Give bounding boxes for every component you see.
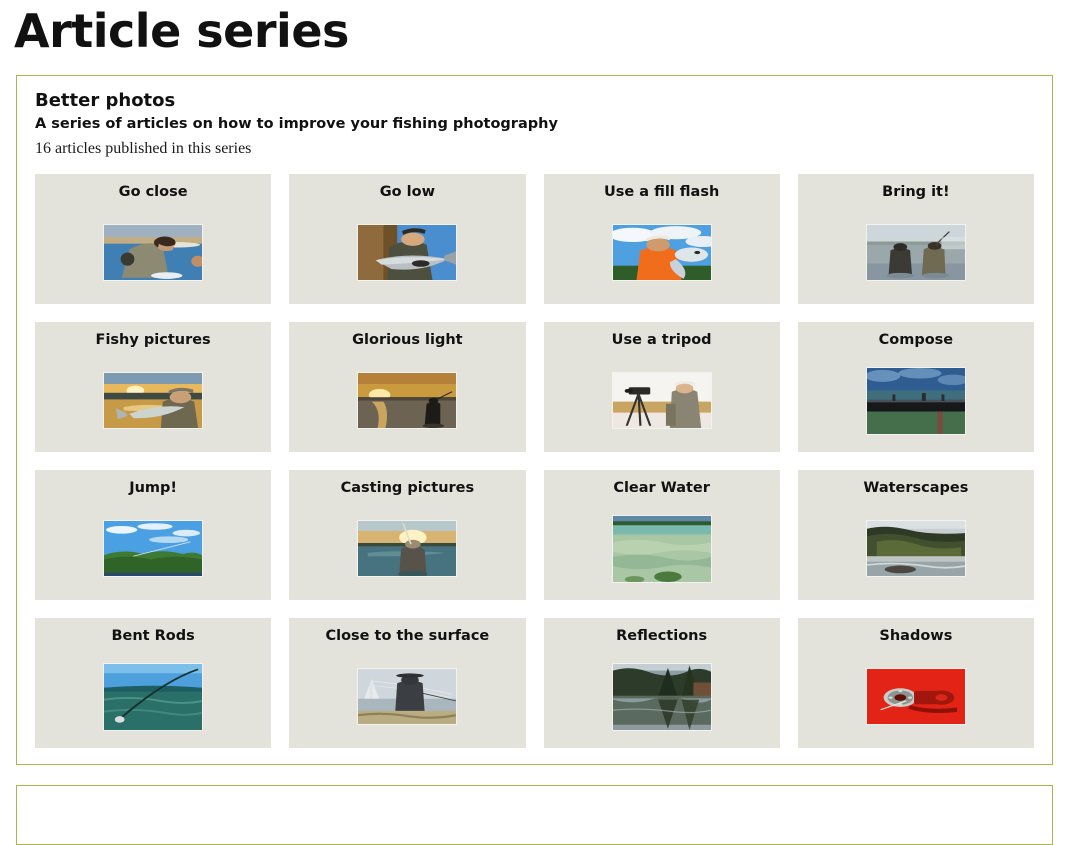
article-card[interactable]: Go low [289,174,525,304]
low-angle-angler-holding-trout-image [357,224,457,281]
article-card-title: Casting pictures [335,476,481,497]
article-card-title: Fishy pictures [90,328,217,349]
two-waders-in-shallow-water-image [866,224,966,281]
sunset-angler-holding-pike-image [103,372,203,429]
sunset-silhouette-wading-image [357,372,457,429]
article-thumbnail-wrap [289,645,525,748]
article-card-title: Bent Rods [105,624,200,645]
article-card[interactable]: Reflections [544,618,780,748]
article-card[interactable]: Use a tripod [544,322,780,452]
article-card-title: Waterscapes [857,476,974,497]
article-card-title: Bring it! [876,180,955,201]
camera-on-tripod-with-angler-image [612,372,712,429]
article-thumbnail-wrap [35,201,271,304]
article-thumbnail-wrap [544,201,780,304]
angler-orange-shirt-with-fish-image [612,224,712,281]
article-card[interactable]: Clear Water [544,470,780,600]
article-thumbnail-wrap [798,201,1034,304]
series-heading: Better photos [35,90,1034,113]
article-card[interactable]: Compose [798,322,1034,452]
article-card[interactable]: Fishy pictures [35,322,271,452]
article-thumbnail-wrap [35,645,271,748]
article-card-title: Shadows [873,624,958,645]
article-card[interactable]: Bring it! [798,174,1034,304]
article-thumbnail-wrap [289,497,525,600]
article-card-title: Reflections [610,624,713,645]
article-card[interactable]: Go close [35,174,271,304]
article-card[interactable]: Bent Rods [35,618,271,748]
article-card[interactable]: Jump! [35,470,271,600]
fly-reel-on-red-background-image [866,668,966,725]
page-title: Article series [0,0,1069,58]
article-card-title: Use a tripod [606,328,718,349]
angler-releasing-fish-closeup-image [103,224,203,281]
article-thumbnail-wrap [289,201,525,304]
article-card[interactable]: Casting pictures [289,470,525,600]
article-card-title: Jump! [123,476,183,497]
article-card-title: Use a fill flash [598,180,725,201]
article-thumbnail-wrap [289,349,525,452]
series-subtitle: A series of articles on how to improve y… [35,115,1034,134]
article-card[interactable]: Close to the surface [289,618,525,748]
article-series-panel: Better photos A series of articles on ho… [16,75,1053,766]
article-thumbnail-wrap [544,349,780,452]
backlit-caster-at-sunset-image [357,520,457,577]
clear-shallow-seagrass-water-image [612,515,712,583]
article-thumbnail-wrap [544,497,780,600]
article-card[interactable]: Shadows [798,618,1034,748]
article-card-title: Close to the surface [319,624,495,645]
wooded-coastline-shoreline-image [866,520,966,577]
article-thumbnail-wrap [544,645,780,748]
article-thumbnail-wrap [798,645,1034,748]
article-grid: Go close Go low Use a fill flash [35,174,1034,748]
article-card-title: Compose [873,328,960,349]
wading-angler-near-bridge-image [357,668,457,725]
bent-rod-over-sea-horizon-image [103,663,203,731]
series-article-count: 16 articles published in this series [35,139,1034,158]
article-card[interactable]: Waterscapes [798,470,1034,600]
forest-lake-mirror-reflection-image [612,663,712,731]
article-thumbnail-wrap [35,349,271,452]
next-series-panel [16,785,1053,845]
article-thumbnail-wrap [35,497,271,600]
bridge-over-blue-water-image [866,367,966,435]
article-card-title: Go close [113,180,194,201]
article-card-title: Go low [374,180,441,201]
blue-sky-over-green-reeds-image [103,520,203,577]
article-card[interactable]: Glorious light [289,322,525,452]
article-thumbnail-wrap [798,497,1034,600]
article-card[interactable]: Use a fill flash [544,174,780,304]
article-card-title: Clear Water [607,476,716,497]
article-thumbnail-wrap [798,349,1034,452]
article-card-title: Glorious light [346,328,469,349]
